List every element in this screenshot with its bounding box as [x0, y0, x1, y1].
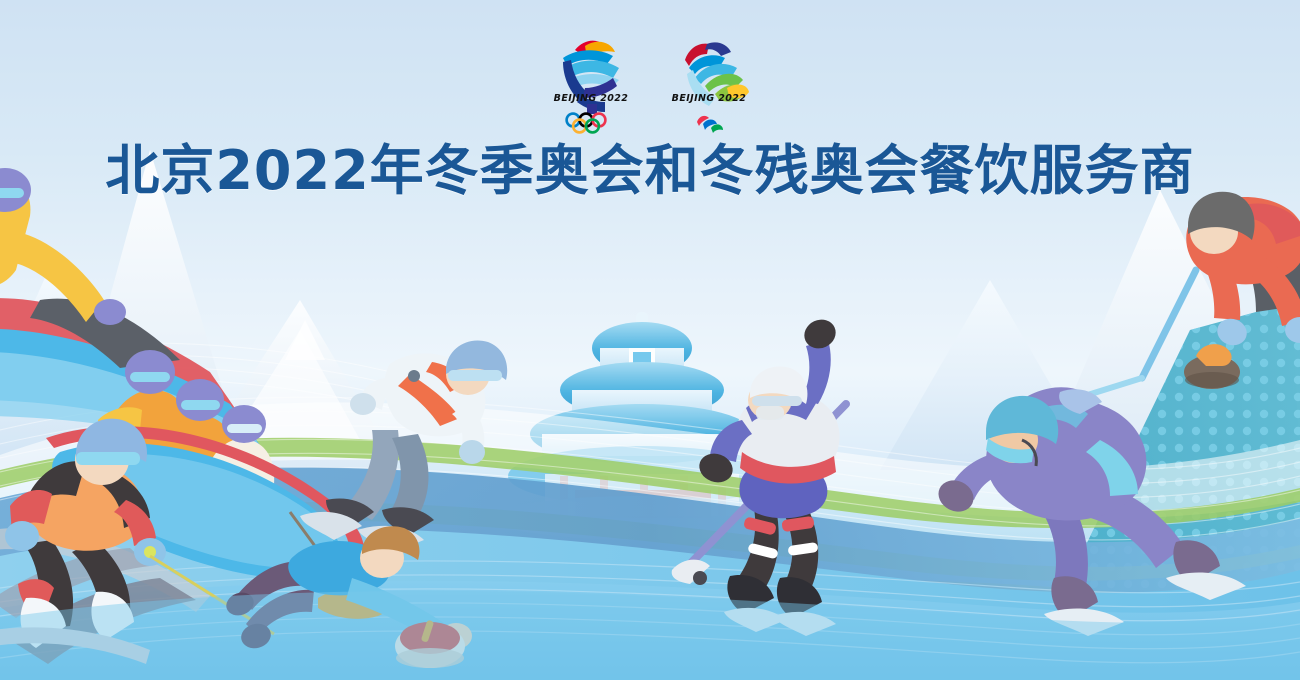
page-title: 北京2022年冬季奥会和冬残奥会餐饮服务商 [105, 140, 1194, 202]
paralympic-wordmark: BEIJING 2022 [659, 93, 759, 104]
beijing-2022-paralympic-emblem: BEIJING 2022 [659, 30, 759, 135]
emblem-row: BEIJING 2022 [0, 30, 1300, 135]
banner-title-wrap: 北京2022年冬季奥会和冬残奥会餐饮服务商 [0, 140, 1300, 202]
olympic-wordmark: BEIJING 2022 [541, 93, 641, 104]
agitos-symbol [697, 116, 723, 133]
olympic-rings [567, 114, 606, 133]
beijing-2022-catering-banner: BEIJING 2022 [0, 0, 1300, 680]
beijing-2022-olympic-emblem: BEIJING 2022 [541, 30, 641, 135]
